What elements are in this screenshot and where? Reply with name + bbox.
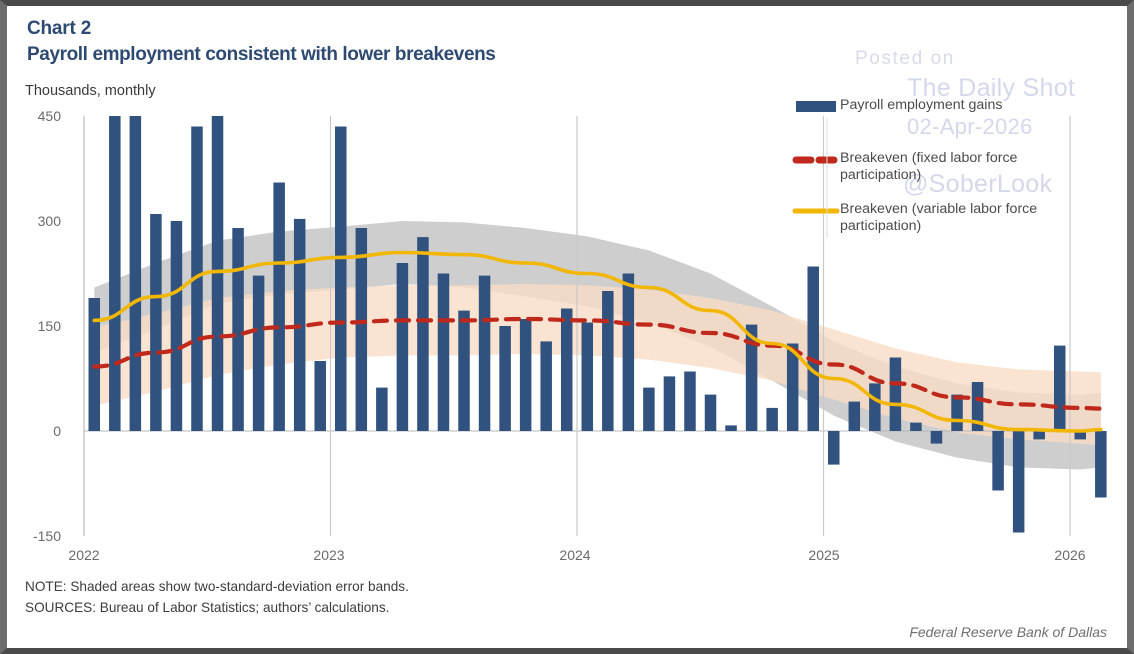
bar[interactable] bbox=[458, 311, 470, 431]
chart-window: Chart 2 Payroll employment consistent wi… bbox=[0, 0, 1134, 654]
bar[interactable] bbox=[1013, 431, 1025, 533]
bar[interactable] bbox=[890, 358, 902, 432]
bar[interactable] bbox=[931, 431, 943, 444]
bar[interactable] bbox=[376, 388, 388, 431]
y-tick-label: 300 bbox=[15, 213, 61, 229]
bar[interactable] bbox=[910, 423, 922, 431]
bar[interactable] bbox=[499, 326, 511, 431]
bar[interactable] bbox=[582, 323, 594, 432]
bar[interactable] bbox=[623, 274, 635, 432]
bar[interactable] bbox=[561, 309, 573, 432]
bar[interactable] bbox=[150, 214, 162, 431]
bar[interactable] bbox=[314, 361, 326, 431]
bar[interactable] bbox=[212, 116, 224, 431]
bar[interactable] bbox=[766, 408, 778, 431]
bar[interactable] bbox=[869, 383, 881, 431]
bar[interactable] bbox=[602, 291, 614, 431]
bar[interactable] bbox=[479, 276, 491, 431]
bar[interactable] bbox=[1033, 431, 1045, 439]
y-tick-label: 0 bbox=[15, 423, 61, 439]
bar[interactable] bbox=[664, 376, 676, 431]
bar[interactable] bbox=[951, 395, 963, 431]
y-tick-label: 450 bbox=[15, 108, 61, 124]
bar[interactable] bbox=[417, 237, 429, 431]
bar[interactable] bbox=[171, 221, 183, 431]
sources-text: SOURCES: Bureau of Labor Statistics; aut… bbox=[25, 600, 389, 615]
legend-item-variable-label[interactable]: Breakeven (variable labor force particip… bbox=[840, 201, 1055, 234]
legend bbox=[795, 101, 837, 238]
bar[interactable] bbox=[130, 116, 142, 431]
bar[interactable] bbox=[725, 425, 737, 431]
bar[interactable] bbox=[540, 341, 552, 431]
bar[interactable] bbox=[684, 372, 696, 432]
legend-swatch-bar bbox=[796, 101, 836, 112]
legend-item-fixed-label[interactable]: Breakeven (fixed labor force participati… bbox=[840, 150, 1055, 183]
bar[interactable] bbox=[1095, 431, 1107, 498]
attribution-text: Federal Reserve Bank of Dallas bbox=[909, 624, 1107, 640]
bar[interactable] bbox=[828, 431, 840, 465]
x-tick-label: 2023 bbox=[299, 547, 359, 563]
bar[interactable] bbox=[807, 267, 819, 432]
bar[interactable] bbox=[520, 319, 532, 431]
x-tick-label: 2024 bbox=[545, 547, 605, 563]
bar[interactable] bbox=[109, 116, 121, 431]
x-tick-label: 2022 bbox=[54, 547, 114, 563]
bar[interactable] bbox=[643, 388, 655, 431]
bar[interactable] bbox=[992, 431, 1004, 491]
y-tick-label: 150 bbox=[15, 318, 61, 334]
x-tick-label: 2025 bbox=[794, 547, 854, 563]
bar[interactable] bbox=[849, 402, 861, 431]
bar[interactable] bbox=[705, 395, 717, 431]
bar[interactable] bbox=[253, 276, 265, 431]
legend-item-payroll-label[interactable]: Payroll employment gains bbox=[840, 97, 1055, 114]
bar[interactable] bbox=[273, 183, 285, 432]
bar[interactable] bbox=[397, 263, 409, 431]
x-tick-label: 2026 bbox=[1040, 547, 1100, 563]
y-tick-label: -150 bbox=[15, 528, 61, 544]
bar[interactable] bbox=[438, 274, 450, 432]
bar[interactable] bbox=[232, 228, 244, 431]
chart-canvas: Chart 2 Payroll employment consistent wi… bbox=[7, 6, 1127, 648]
bar[interactable] bbox=[335, 127, 347, 432]
note-text: NOTE: Shaded areas show two-standard-dev… bbox=[25, 579, 409, 594]
bar[interactable] bbox=[1054, 346, 1066, 431]
